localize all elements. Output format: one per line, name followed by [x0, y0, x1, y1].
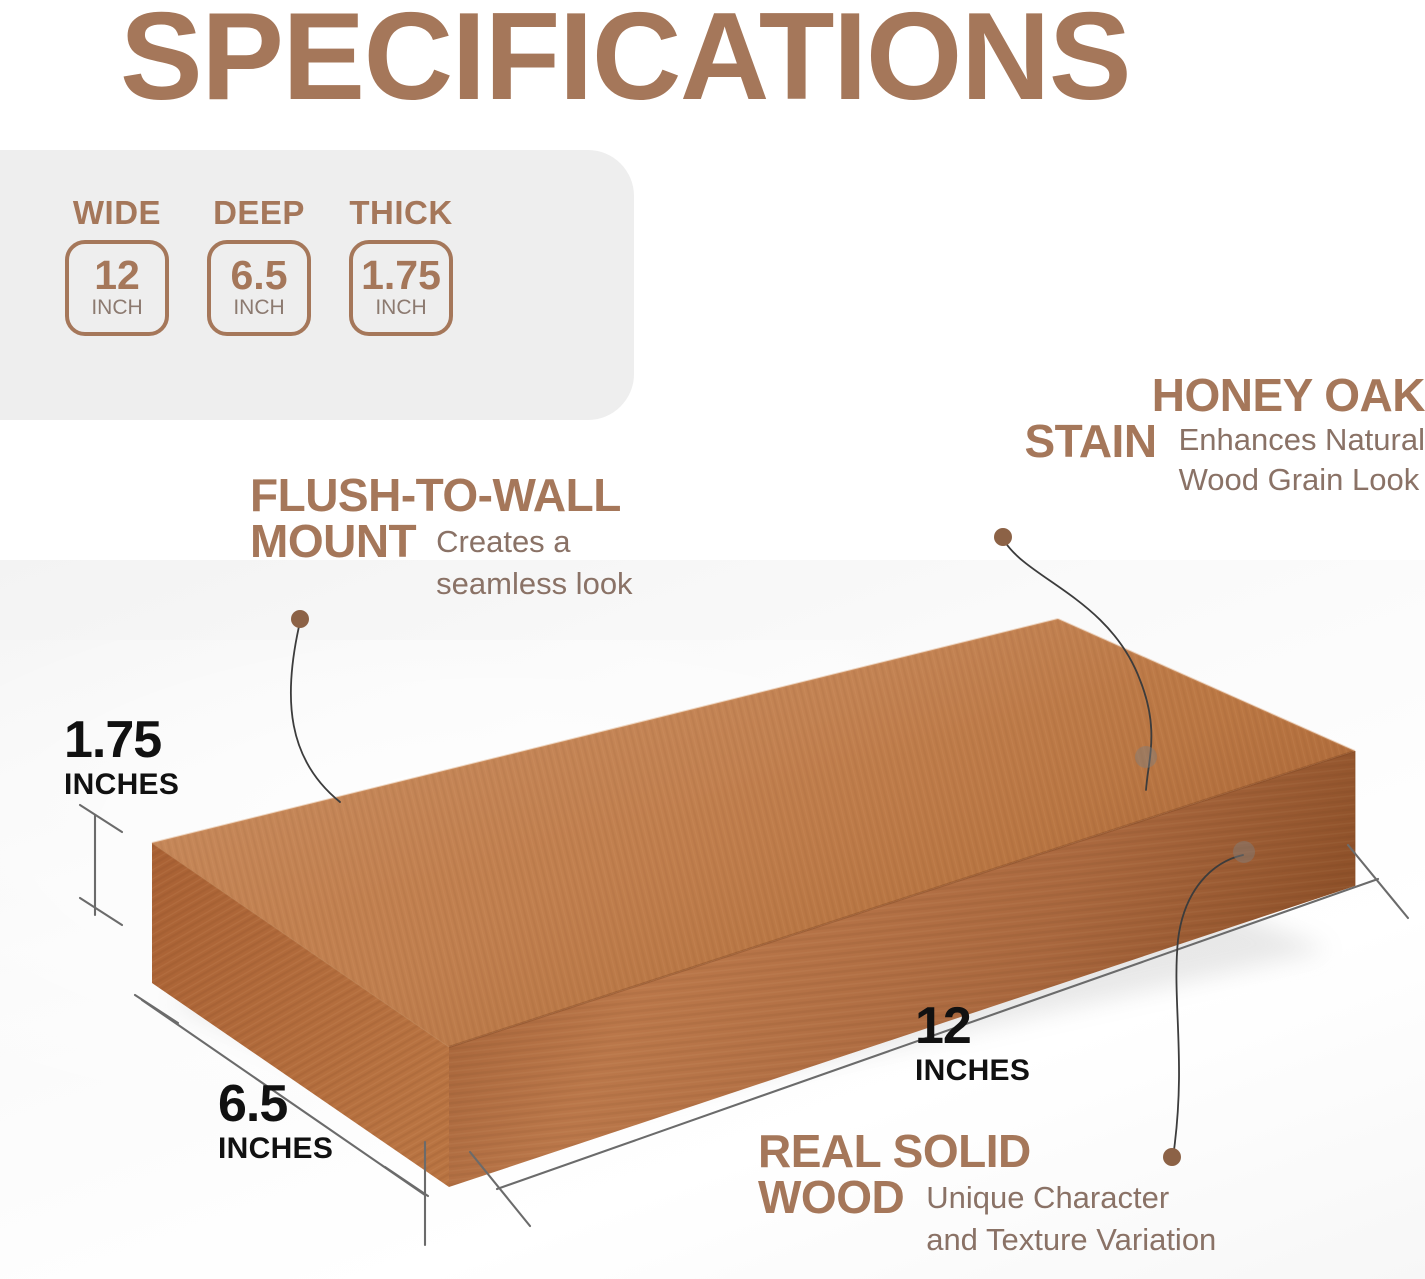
leader-line-honey-oak-stain — [1005, 542, 1151, 790]
callout-leader-lines — [0, 0, 1425, 1279]
callout-dot-flush-to-wall — [291, 610, 309, 628]
leader-line-flush-to-wall — [291, 622, 340, 802]
leader-line-real-solid-wood — [1174, 855, 1243, 1150]
anchor-dot-real-solid-wood — [1233, 841, 1255, 863]
callout-dot-real-solid-wood — [1163, 1148, 1181, 1166]
infographic-canvas: SPECIFICATIONS WIDE 12 INCH DEEP 6.5 INC… — [0, 0, 1425, 1279]
anchor-dot-honey-oak-stain — [1135, 746, 1157, 768]
callout-dot-honey-oak-stain — [994, 528, 1012, 546]
